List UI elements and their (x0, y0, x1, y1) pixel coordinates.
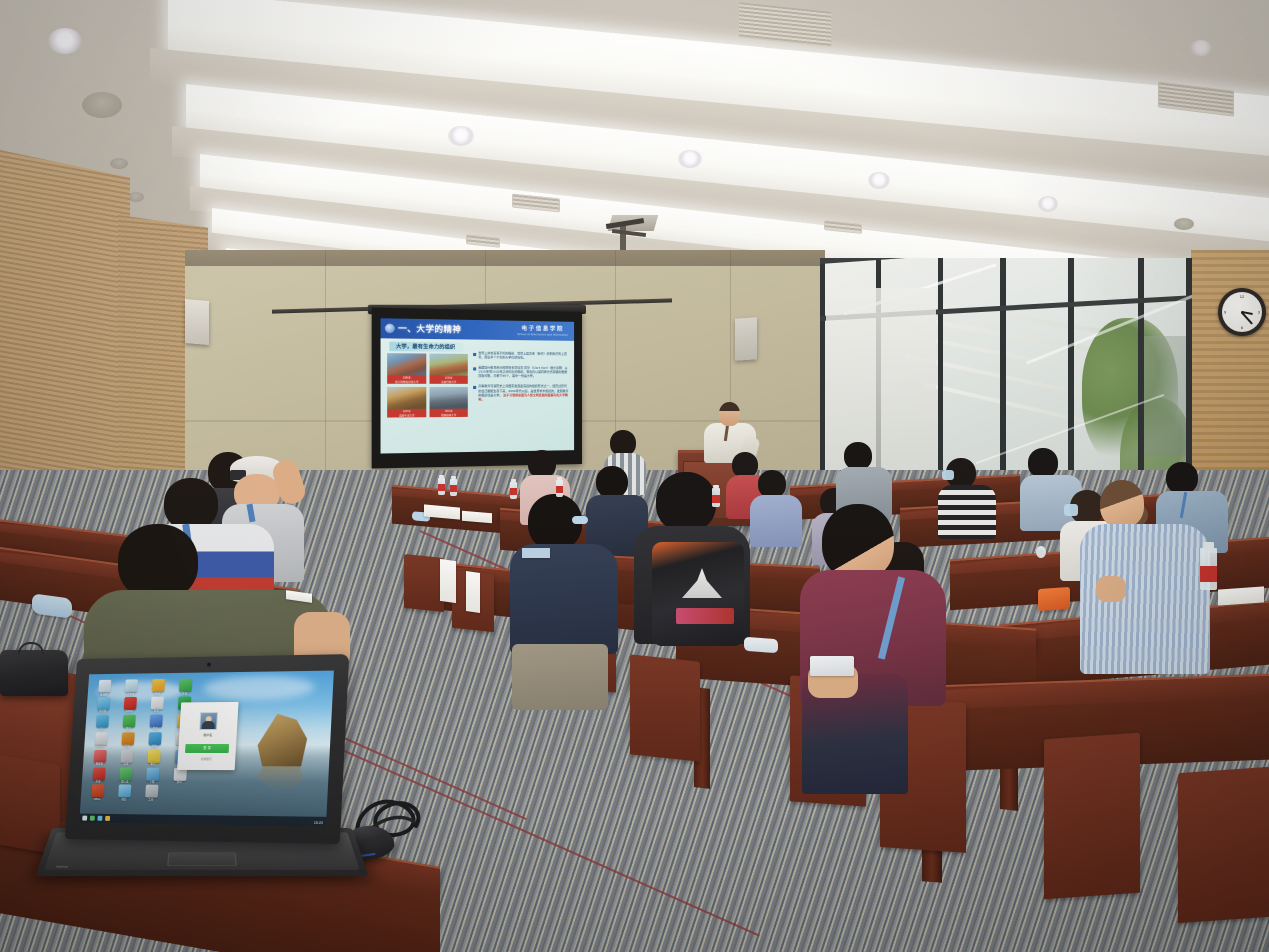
slide-thumbnail: 1088年 意大利博洛尼亚大学 (387, 353, 426, 384)
water-bottle[interactable] (450, 479, 457, 496)
clock-face: 12 3 6 9 (1222, 292, 1262, 332)
slide-title: 一、大学的精神 (398, 323, 461, 335)
wallpaper-rock (253, 713, 313, 766)
taskbar-folder-icon[interactable] (105, 816, 110, 821)
downlight (1038, 196, 1058, 212)
antivirus-icon (92, 767, 105, 780)
clock-numeral-6: 6 (1241, 325, 1243, 330)
webcam-icon (207, 663, 211, 667)
adobe-icon (123, 697, 136, 710)
downlight (678, 150, 702, 168)
login-button[interactable]: 登 录 (185, 744, 229, 753)
slide-bullet-list: 世界上并非没有不朽的组织，世界上最古老（前代）的机构已有上百年，而近半个千年的大… (473, 351, 569, 408)
desktop-icon[interactable]: 播放器 (87, 750, 113, 767)
start-button-icon[interactable] (82, 816, 87, 821)
desktop-icon[interactable]: 下载 (139, 767, 165, 784)
login-user-name: 用户名 (179, 733, 237, 737)
school-logo: 电子信息学院 School of Electronics and Informa… (517, 324, 568, 337)
backpack-print (676, 608, 734, 624)
desktop-icon[interactable]: QQ (89, 715, 115, 732)
attendee-head (118, 524, 198, 600)
phone-icon[interactable] (810, 656, 854, 676)
slide-thumbnail-grid: 1088年 意大利博洛尼亚大学 1150年 法国巴黎大学 1167年 英国牛 (387, 353, 468, 417)
chair[interactable] (1178, 767, 1269, 923)
thumbnail-caption: 1088年 意大利博洛尼亚大学 (387, 375, 426, 383)
documents-icon (178, 679, 191, 692)
face-mask-icon[interactable] (572, 516, 588, 524)
thumbnail-name: 法国巴黎大学 (430, 380, 468, 384)
attendee-head (1100, 480, 1144, 528)
face-mask-icon (1064, 504, 1078, 516)
qq-icon (95, 715, 108, 728)
attendee-hand (1096, 576, 1126, 602)
orange-phone-case[interactable] (1038, 587, 1070, 611)
explorer-icon (118, 785, 131, 798)
desktop-icon[interactable]: 笔记 (140, 750, 166, 767)
chair[interactable] (404, 554, 444, 612)
office-suite-icon (91, 785, 104, 798)
network-icon (151, 679, 164, 692)
thumbnail-caption: 1810年 德国柏林大学 (430, 409, 468, 418)
ceiling-sensor-icon (110, 158, 128, 169)
desktop-icon[interactable]: Office (84, 785, 110, 802)
slide-thumbnail: 1150年 法国巴黎大学 (430, 354, 468, 384)
paper-handout[interactable] (466, 571, 480, 613)
face-mask-icon[interactable] (744, 637, 778, 653)
clock-numeral-12: 12 (1240, 294, 1244, 299)
slide-bullet: 美国加州伯克利分校原校长克拉克·克尔（Clark Kerr）统计表明：从1520… (473, 366, 569, 379)
attendee-head (164, 478, 218, 530)
outside-building (1138, 336, 1192, 456)
desktop-icon[interactable]: 音乐 (144, 697, 170, 714)
laptop-touchpad[interactable] (167, 853, 237, 866)
slide-badge-icon (385, 324, 395, 334)
desktop-icon[interactable]: 工具 (138, 785, 164, 802)
bullet-text: 美国加州伯克利分校原校长克拉克·克尔（Clark Kerr）统计表明：从1520… (478, 366, 569, 379)
laptop-brand: laptop (56, 865, 69, 868)
archive-icon (121, 732, 134, 745)
ime-icon (119, 767, 132, 780)
desktop-icon[interactable]: 回收站 (118, 679, 144, 696)
desktop-icon[interactable]: 杀毒 (86, 767, 112, 784)
thumbnail-image (387, 353, 426, 375)
wechat-icon (122, 714, 135, 727)
ceiling-sensor-icon (1174, 218, 1194, 230)
paper-handout[interactable] (440, 559, 456, 603)
cup[interactable] (1036, 546, 1046, 558)
desktop-icon[interactable]: Adobe (117, 697, 143, 714)
thumbnail-name: 德国柏林大学 (430, 413, 468, 417)
bullet-marker-icon (473, 386, 476, 389)
backpack-logo-icon (682, 568, 722, 598)
thumbnail-name: 意大利博洛尼亚大学 (387, 380, 426, 384)
thumbnail-image (387, 387, 426, 409)
water-bottle[interactable] (438, 478, 445, 495)
water-bottle[interactable] (510, 482, 517, 499)
desktop-icon[interactable]: Chrome (88, 732, 114, 749)
presenter-head (719, 402, 740, 426)
browser-icon (97, 697, 110, 710)
laptop[interactable]: laptop 此电脑 回收站 网络 文档 浏览器 Adobe 音乐 (52, 656, 352, 936)
desktop-icon[interactable]: 微信 (116, 714, 142, 731)
slide-thumbnail: 1810年 德国柏林大学 (430, 387, 468, 417)
ceiling-speaker-icon (82, 92, 122, 118)
this-pc-icon (98, 680, 111, 693)
wall-clock: 12 3 6 9 (1218, 288, 1266, 336)
attendee-head (596, 466, 628, 498)
attendee-torso (938, 485, 996, 539)
desktop-icon[interactable]: 浏览 (111, 785, 137, 802)
chrome-icon (94, 732, 107, 745)
downlight (48, 28, 82, 54)
ceiling-sensor-icon (128, 192, 144, 202)
notebook[interactable] (522, 548, 550, 558)
paper-handout[interactable] (1218, 586, 1264, 605)
video-icon (148, 732, 161, 745)
water-bottle[interactable] (556, 480, 563, 497)
thumbnail-name: 英国牛津大学 (387, 414, 426, 418)
face-mask-icon (942, 470, 954, 480)
school-logo-cn: 电子信息学院 (517, 324, 568, 333)
attendee-head (1166, 462, 1198, 494)
desktop-icon[interactable]: 输入法 (112, 767, 138, 784)
laptop-screen[interactable]: 此电脑 回收站 网络 文档 浏览器 Adobe 音乐 Excel QQ 微信 网… (79, 671, 334, 827)
water-bottle[interactable] (1200, 548, 1217, 590)
wall-speaker-icon (735, 317, 757, 361)
downlight (448, 126, 474, 146)
attendee-head (758, 470, 786, 498)
taskbar[interactable]: 15:23 (79, 814, 326, 827)
attendee-head (656, 472, 716, 532)
attendee-head (822, 504, 894, 580)
bullet-text: 高等教育可谓历史上对国家发展最深远的组织形式之一，经历过历代的变迁都能生存下来，… (478, 384, 569, 401)
desktop-icon[interactable]: 网络 (145, 679, 171, 696)
attendee-torso (510, 544, 618, 654)
air-vent (738, 1, 832, 47)
desktop-icon[interactable]: 视频 (141, 732, 167, 749)
notes-icon (147, 750, 160, 763)
desktop-icon[interactable]: 设置 (113, 750, 139, 767)
wallpaper-rock-reflection (254, 766, 309, 793)
bullet-marker-icon (473, 353, 476, 356)
school-logo-en: School of Electronics and Information (517, 333, 568, 337)
laptop-lid: 此电脑 回收站 网络 文档 浏览器 Adobe 音乐 Excel QQ 微信 网… (65, 654, 349, 844)
backpack (652, 542, 744, 646)
clock-numeral-9: 9 (1224, 310, 1226, 315)
desktop-icon[interactable]: 此电脑 (91, 680, 117, 697)
bullet-marker-icon (473, 368, 476, 371)
lecture-hall-photo: 12 3 6 9 一、大学的精神 电子信息学院 School of Electr… (0, 0, 1269, 952)
attendee-head (528, 450, 556, 478)
switch-account-link[interactable]: 切换账号 (178, 757, 236, 761)
thumbnail-caption: 1167年 英国牛津大学 (387, 409, 426, 418)
thumbnail-caption: 1150年 法国巴黎大学 (430, 375, 468, 383)
recycle-bin-icon (124, 679, 137, 692)
settings-icon (120, 750, 133, 763)
attendee-legs (512, 644, 608, 710)
tools-icon (145, 785, 158, 798)
avatar (199, 712, 218, 730)
netdisk-icon (149, 714, 162, 727)
bullet-text: 世界上并非没有不朽的组织，世界上最古老（前代）的机构已有上百年，而近半个千年的大… (478, 351, 569, 360)
front-wall-top-trim (185, 250, 825, 266)
desktop-icon[interactable]: 浏览器 (90, 697, 116, 714)
chair[interactable] (1044, 733, 1140, 900)
presentation-slide: 一、大学的精神 电子信息学院 School of Electronics and… (381, 318, 575, 453)
attendee-torso (750, 495, 802, 547)
wallpaper-cloud (203, 675, 315, 700)
slide-header-bar: 一、大学的精神 电子信息学院 School of Electronics and… (381, 318, 575, 341)
attendee-head (1028, 448, 1058, 478)
chair[interactable] (630, 654, 700, 761)
attendee-head (844, 442, 872, 470)
desktop-icon[interactable]: 压缩 (115, 732, 141, 749)
clock-numeral-3: 3 (1258, 310, 1260, 315)
clock-center-pin (1241, 311, 1244, 314)
desktop-icon[interactable]: 网盘 (143, 714, 169, 731)
thumbnail-image (430, 354, 468, 376)
projection-screen[interactable]: 一、大学的精神 电子信息学院 School of Electronics and… (372, 307, 582, 468)
taskbar-wechat-icon[interactable] (90, 816, 95, 821)
slide-thumbnail: 1167年 英国牛津大学 (387, 387, 426, 418)
thumbnail-image (430, 387, 468, 409)
desktop-icon[interactable]: 文档 (172, 679, 198, 696)
slide-subtitle: 大学，最有生命力的组织 (389, 342, 463, 352)
taskbar-qq-icon[interactable] (97, 816, 102, 821)
download-icon (146, 767, 159, 780)
downlight (1190, 40, 1212, 56)
taskbar-clock[interactable]: 15:23 (314, 821, 323, 825)
avatar-body (202, 721, 215, 729)
player-icon (93, 750, 106, 763)
login-dialog[interactable]: 用户名 登 录 切换账号 (177, 702, 238, 770)
slide-bullet: 世界上并非没有不朽的组织，世界上最古老（前代）的机构已有上百年，而近半个千年的大… (473, 351, 569, 360)
downlight (868, 172, 890, 189)
music-icon (150, 697, 163, 710)
slide-bullet: 高等教育可谓历史上对国家发展最深远的组织形式之一，经历过历代的变迁都能生存下来，… (473, 384, 569, 401)
wall-speaker-icon (185, 299, 209, 345)
water-bottle[interactable] (712, 488, 720, 507)
